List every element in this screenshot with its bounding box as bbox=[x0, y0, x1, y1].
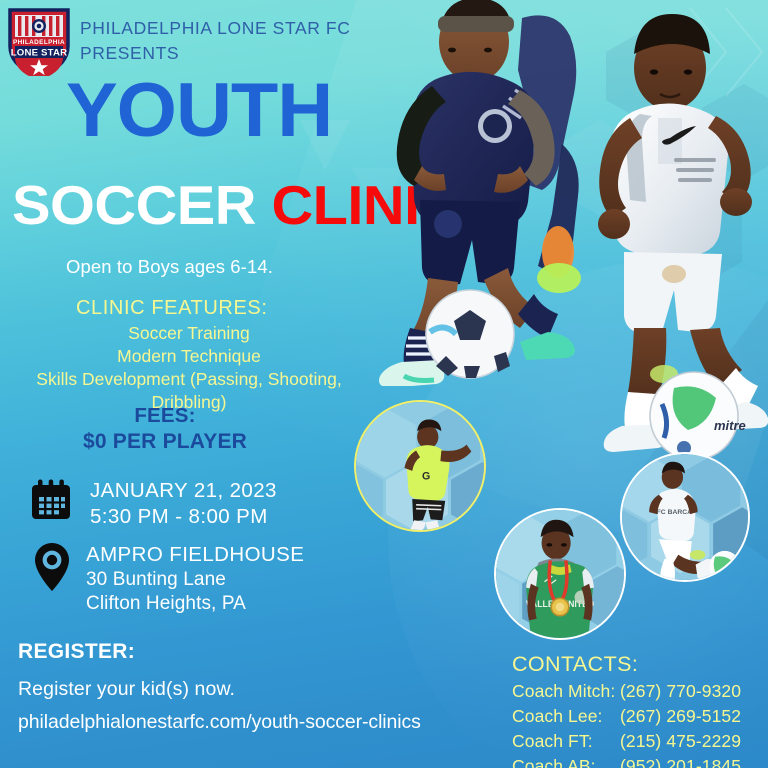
contact-name: Coach Mitch: bbox=[512, 679, 620, 704]
svg-text:LONE STAR: LONE STAR bbox=[11, 48, 68, 59]
venue-street: 30 Bunting Lane bbox=[86, 568, 304, 592]
contact-phone[interactable]: (215) 475-2229 bbox=[620, 729, 741, 754]
contact-phone[interactable]: (267) 770-9320 bbox=[620, 679, 741, 704]
fees-amount: $0 PER PLAYER bbox=[0, 429, 330, 455]
feature-item: Soccer Training bbox=[0, 322, 378, 345]
event-date-row: JANUARY 21, 2023 5:30 PM - 8:00 PM bbox=[28, 478, 277, 530]
register-block: REGISTER: Register your kid(s) now. phil… bbox=[18, 640, 421, 734]
contact-row: Coach Mitch: (267) 770-9320 bbox=[512, 679, 741, 704]
eligibility-text: Open to Boys ages 6-14. bbox=[66, 256, 273, 278]
calendar-icon bbox=[28, 478, 74, 529]
contact-row: Coach Lee: (267) 269-5152 bbox=[512, 704, 741, 729]
contacts-title: CONTACTS: bbox=[512, 652, 741, 677]
feature-item: Modern Technique bbox=[0, 345, 378, 368]
clinic-features-title: CLINIC FEATURES: bbox=[76, 297, 267, 320]
contact-phone[interactable]: (952) 201-1845 bbox=[620, 754, 741, 768]
circle-celebrating: G bbox=[354, 400, 486, 532]
register-url[interactable]: philadelphialonestarfc.com/youth-soccer-… bbox=[18, 711, 421, 734]
event-date: JANUARY 21, 2023 bbox=[90, 478, 277, 504]
lone-star-logo: PHILADELPHIA LONE STAR bbox=[6, 4, 72, 76]
contact-name: Coach Lee: bbox=[512, 704, 620, 729]
register-title: REGISTER: bbox=[18, 640, 421, 664]
svg-text:PHILADELPHIA: PHILADELPHIA bbox=[13, 39, 65, 46]
circle-kicking: FC BARCA bbox=[620, 452, 750, 582]
svg-text:G: G bbox=[422, 471, 430, 483]
contact-name: Coach FT: bbox=[512, 729, 620, 754]
venue-name: AMPRO FIELDHOUSE bbox=[86, 542, 304, 568]
contacts-block: CONTACTS: Coach Mitch: (267) 770-9320 Co… bbox=[512, 652, 741, 768]
headline-youth: YOUTH bbox=[66, 76, 332, 146]
contact-row: Coach FT: (215) 475-2229 bbox=[512, 729, 741, 754]
svg-text:mitre: mitre bbox=[714, 418, 746, 433]
fees-block: FEES: $0 PER PLAYER bbox=[0, 403, 330, 455]
player-navy-kit bbox=[352, 0, 602, 386]
event-time: 5:30 PM - 8:00 PM bbox=[90, 504, 277, 530]
contact-phone[interactable]: (267) 269-5152 bbox=[620, 704, 741, 729]
register-cta: Register your kid(s) now. bbox=[18, 678, 421, 701]
player-white-kit: mitre bbox=[578, 6, 768, 458]
fees-title: FEES: bbox=[0, 403, 330, 429]
svg-text:FC BARCA: FC BARCA bbox=[657, 509, 692, 516]
clinic-features-list: Soccer Training Modern Technique Skills … bbox=[0, 322, 378, 414]
event-location-text: AMPRO FIELDHOUSE 30 Bunting Lane Clifton… bbox=[86, 542, 304, 616]
map-pin-icon bbox=[34, 542, 70, 597]
event-location-row: AMPRO FIELDHOUSE 30 Bunting Lane Clifton… bbox=[28, 542, 304, 616]
contact-name: Coach AB: bbox=[512, 754, 620, 768]
venue-city: Clifton Heights, PA bbox=[86, 592, 304, 616]
contact-row: Coach AB: (952) 201-1845 bbox=[512, 754, 741, 768]
headline-soccer: SOCCER bbox=[12, 174, 271, 236]
event-date-text: JANUARY 21, 2023 5:30 PM - 8:00 PM bbox=[90, 478, 277, 530]
circle-medal: VALLEY UNITED bbox=[494, 508, 626, 640]
flyer-canvas: PHILADELPHIA LONE STAR PHILADELPHIA LONE… bbox=[0, 0, 768, 768]
